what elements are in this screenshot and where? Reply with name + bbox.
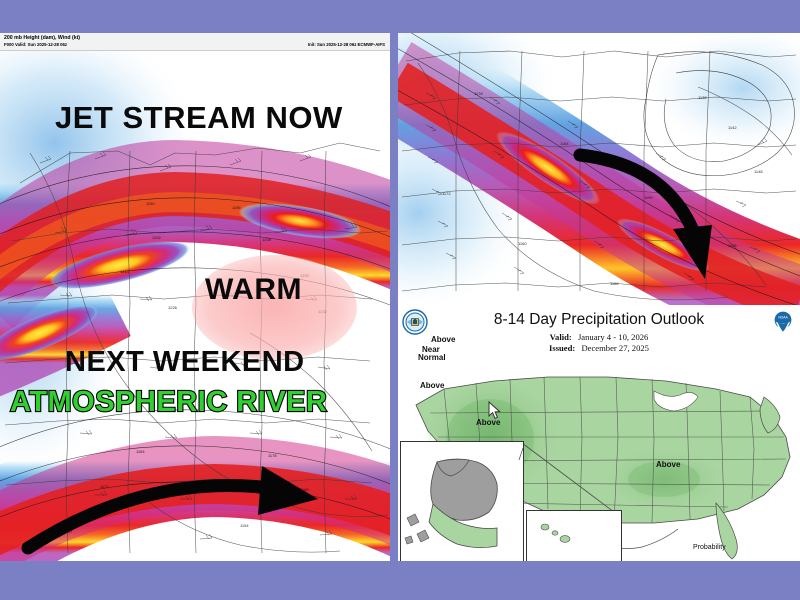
svg-text:1196: 1196 [232, 205, 241, 210]
svg-text:1178: 1178 [474, 91, 483, 96]
precip-outlook-valid-row: Valid: January 4 - 10, 2026 [398, 332, 800, 342]
valid-label: Valid: [550, 332, 572, 342]
label-above-east: Above [656, 460, 680, 469]
svg-text:1190: 1190 [644, 195, 653, 200]
svg-text:1160: 1160 [518, 241, 527, 246]
caption-jet-stream-now: JET STREAM NOW [55, 100, 343, 136]
wednesday-map-graphic: 11781184 11901196 11361142 11481160 1166… [398, 33, 800, 305]
jet-now-header-init: Init: Sun 2025-12-28 06z ECMWF-AIFS [308, 42, 385, 48]
mouse-cursor [488, 401, 501, 420]
wednesday-panel: 11781184 11901196 11361142 11481160 1166… [398, 33, 800, 305]
svg-text:1202: 1202 [152, 235, 162, 240]
svg-text:1172: 1172 [100, 484, 109, 489]
svg-text:1196: 1196 [728, 243, 737, 248]
svg-text:1208: 1208 [262, 237, 272, 242]
svg-text:1214: 1214 [120, 269, 130, 274]
svg-text:1148: 1148 [754, 169, 763, 174]
svg-text:1184: 1184 [560, 141, 569, 146]
svg-text:1190: 1190 [146, 201, 155, 206]
svg-text:1232: 1232 [318, 309, 328, 314]
hawaii-inset [526, 510, 622, 561]
caption-atmospheric-river: ATMOSPHERIC RIVER [10, 386, 327, 419]
label-alaska-above-top: Above [431, 335, 455, 344]
jet-now-map-header: 200 mb Height (dam), Wind (kt) F000 Vali… [0, 33, 390, 51]
svg-text:1136: 1136 [698, 95, 707, 100]
precip-outlook-title: 8-14 Day Precipitation Outlook [398, 311, 800, 329]
svg-text:1166: 1166 [610, 281, 619, 286]
jet-stream-now-panel: 200 mb Height (dam), Wind (kt) F000 Vali… [0, 33, 390, 561]
issued-label: Issued: [549, 343, 575, 353]
label-alaska-above-bottom: Above [420, 381, 444, 390]
svg-text:1226: 1226 [168, 305, 178, 310]
svg-text:1178: 1178 [268, 453, 277, 458]
alaska-inset [400, 441, 524, 561]
caption-warm: WARM [205, 273, 302, 307]
jet-now-header-valid: F000 Valid: Sun 2025-12-28 06z [4, 42, 67, 48]
issued-value: December 27, 2025 [581, 343, 649, 353]
precipitation-outlook-panel: NOAA 8-14 Day Precipitation Outlook Vali… [398, 305, 800, 561]
label-probability: Probability [693, 544, 726, 551]
precip-outlook-issued-row: Issued: December 27, 2025 [398, 343, 800, 353]
svg-text:1184: 1184 [136, 449, 145, 454]
svg-text:1154: 1154 [240, 523, 249, 528]
svg-text:1172: 1172 [442, 191, 451, 196]
caption-next-weekend: NEXT WEEKEND [65, 346, 305, 379]
screenshot-stage: 200 mb Height (dam), Wind (kt) F000 Vali… [0, 0, 800, 600]
label-alaska-normal: Normal [418, 353, 446, 362]
svg-text:1142: 1142 [728, 125, 737, 130]
valid-value: January 4 - 10, 2026 [578, 332, 648, 342]
